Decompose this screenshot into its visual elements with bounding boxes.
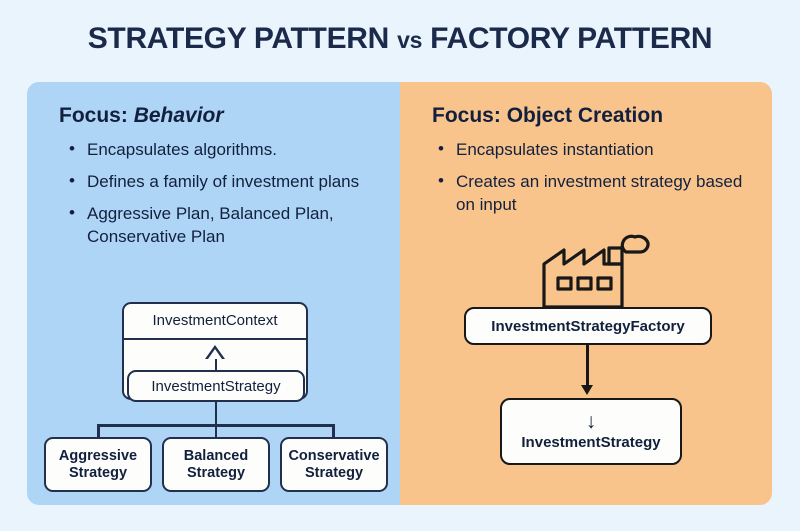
tree-branch-right <box>332 424 335 438</box>
left-heading-emphasis: Behavior <box>134 104 224 127</box>
title-part-1: STRATEGY PATTERN <box>88 22 389 55</box>
tree-branch-middle <box>215 424 218 438</box>
uml-class-aggressivestrategy: Aggressive Strategy <box>44 437 152 492</box>
left-panel-heading: Focus: Behavior <box>59 104 224 128</box>
leaf-line-1: Aggressive <box>59 448 137 465</box>
leaf-line-2: Strategy <box>69 465 127 482</box>
list-item: Creates an investment strategy based on … <box>438 170 758 216</box>
inheritance-triangle-fill <box>208 349 222 359</box>
arrow-down-icon: ↓ <box>586 412 597 432</box>
leaf-line-2: Strategy <box>305 465 363 482</box>
factory-class-name: InvestmentStrategyFactory <box>491 318 684 335</box>
right-panel-heading: Focus: Object Creation <box>432 104 663 128</box>
right-heading-emphasis: Object Creation <box>507 104 663 127</box>
tree-trunk <box>215 402 218 424</box>
page-title: STRATEGY PATTERN vs FACTORY PATTERN <box>0 22 800 56</box>
uml-class-conservativestrategy: Conservative Strategy <box>280 437 388 492</box>
leaf-line-1: Balanced <box>184 448 248 465</box>
list-item: Encapsulates algorithms. <box>69 138 387 161</box>
uml-class-balancedstrategy: Balanced Strategy <box>162 437 270 492</box>
title-vs: vs <box>397 27 422 53</box>
infographic-canvas: STRATEGY PATTERN vs FACTORY PATTERN Focu… <box>0 0 800 531</box>
factory-class-box: InvestmentStrategyFactory <box>464 307 712 345</box>
title-part-2: FACTORY PATTERN <box>430 22 712 55</box>
uml-class-name: InvestmentContext <box>124 304 306 340</box>
leaf-line-1: Conservative <box>288 448 379 465</box>
leaf-line-2: Strategy <box>187 465 245 482</box>
uml-class-investmentstrategy: InvestmentStrategy <box>127 370 305 402</box>
arrow-head-down-icon <box>581 385 593 395</box>
list-item: Aggressive Plan, Balanced Plan, Conserva… <box>69 202 387 248</box>
factory-icon <box>538 228 650 310</box>
list-item: Encapsulates instantiation <box>438 138 758 161</box>
tree-branch-left <box>97 424 100 438</box>
left-heading-prefix: Focus: <box>59 104 128 127</box>
factory-flow-line <box>586 345 589 387</box>
right-heading-prefix: Focus: <box>432 104 501 127</box>
left-bullet-list: Encapsulates algorithms. Defines a famil… <box>69 138 387 257</box>
right-bullet-list: Encapsulates instantiation Creates an in… <box>438 138 758 225</box>
result-class-name: InvestmentStrategy <box>521 434 660 451</box>
result-class-box: ↓ InvestmentStrategy <box>500 398 682 465</box>
uml-class-name: InvestmentStrategy <box>151 378 280 395</box>
list-item: Defines a family of investment plans <box>69 170 387 193</box>
